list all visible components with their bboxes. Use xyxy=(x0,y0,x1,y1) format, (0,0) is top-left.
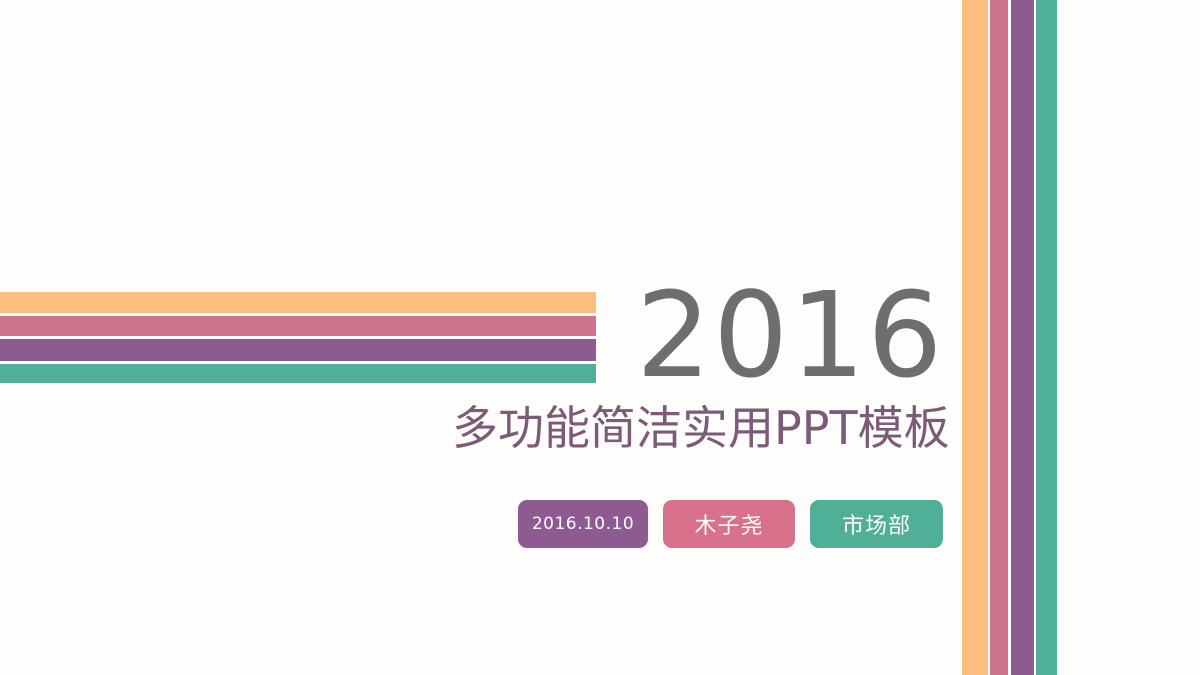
badge-department: 市场部 xyxy=(810,500,943,548)
left-stripe-orange xyxy=(0,292,596,313)
left-stripe-pink xyxy=(0,316,596,336)
right-stripe-orange xyxy=(962,0,988,675)
slide-subtitle: 多功能简洁实用PPT模板 xyxy=(452,401,950,455)
slide-year-title: 2016 xyxy=(636,276,944,394)
left-stripe-green xyxy=(0,364,596,383)
right-stripe-pink xyxy=(990,0,1008,675)
left-stripe-purple xyxy=(0,339,596,361)
badge-author: 木子尧 xyxy=(663,500,795,548)
badge-date: 2016.10.10 xyxy=(518,500,648,548)
right-stripe-green xyxy=(1036,0,1057,675)
badge-row: 2016.10.10 木子尧 市场部 xyxy=(518,500,943,548)
presentation-cover-slide: 2016 多功能简洁实用PPT模板 2016.10.10 木子尧 市场部 xyxy=(0,0,1200,675)
right-stripe-purple xyxy=(1011,0,1034,675)
